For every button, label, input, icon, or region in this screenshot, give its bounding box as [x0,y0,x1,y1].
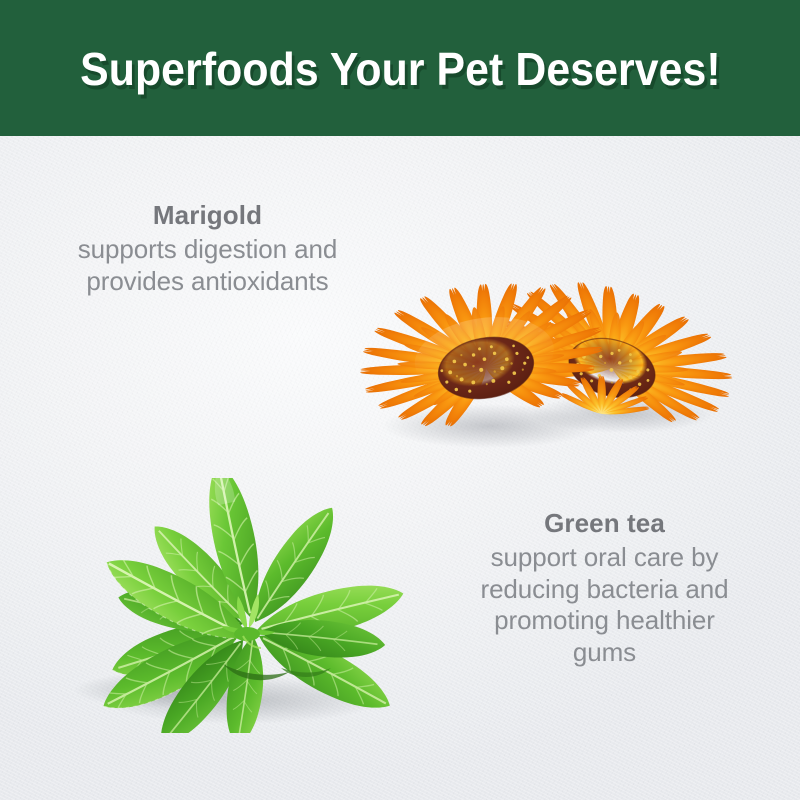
green-tea-body-line-4: gums [437,637,772,668]
marigold-body-line-1: supports digestion and [30,234,385,265]
marigold-caption: Marigold supports digestion and provides… [30,200,385,297]
green-tea-body-line-1: support oral care by [437,542,772,573]
green-tea-title: Green tea [437,508,772,538]
green-tea-leaves-photo [45,478,435,733]
marigold-title: Marigold [30,200,385,230]
page-title: Superfoods Your Pet Deserves! [80,46,721,92]
header-banner: Superfoods Your Pet Deserves! [0,0,800,136]
green-tea-body-line-3: promoting healthier [437,605,772,636]
marigold-body-line-2: provides antioxidants [30,266,385,297]
infographic-canvas: Superfoods Your Pet Deserves! [0,0,800,800]
marigold-flowers-photo [350,218,735,463]
green-tea-body-line-2: reducing bacteria and [437,574,772,605]
green-tea-caption: Green tea support oral care by reducing … [437,508,772,668]
